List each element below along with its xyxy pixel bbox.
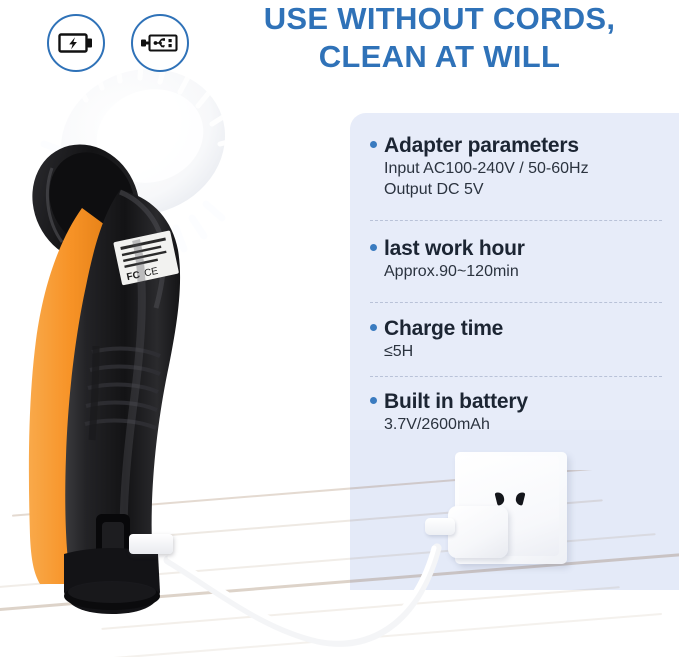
spec-title: Adapter parameters — [384, 133, 579, 158]
spec-title: Built in battery — [384, 389, 528, 414]
usb-connector-badge — [131, 14, 189, 72]
spec-detail-line: 3.7V/2600mAh — [384, 414, 670, 435]
bullet-icon — [370, 141, 377, 148]
spec-title: Charge time — [384, 316, 503, 341]
spec-detail-line: Input AC100-240V / 50-60Hz — [384, 158, 670, 179]
spec-divider — [370, 220, 662, 221]
battery-charging-badge — [47, 14, 105, 72]
spec-title: last work hour — [384, 236, 525, 261]
spec-divider — [370, 302, 662, 303]
spec-heading: Adapter parameters — [370, 133, 670, 158]
device-cable-plug — [129, 534, 173, 554]
outlet-slot-left — [495, 491, 506, 506]
spec-divider — [370, 376, 662, 377]
headline-line-2: CLEAN AT WILL — [200, 38, 679, 76]
usb-connector-icon — [140, 31, 180, 55]
battery-charging-icon — [58, 31, 94, 55]
spec-item-battery: Built in battery 3.7V/2600mAh — [370, 389, 670, 435]
usb-wall-adapter — [448, 506, 508, 558]
bullet-icon — [370, 324, 377, 331]
adapter-cable-plug — [425, 518, 455, 535]
specifications-panel: Adapter parameters Input AC100-240V / 50… — [350, 113, 679, 463]
spec-item-charge-time: Charge time ≤5H — [370, 316, 670, 362]
spec-item-adapter: Adapter parameters Input AC100-240V / 50… — [370, 133, 670, 200]
spec-heading: Charge time — [370, 316, 670, 341]
spec-detail-line: ≤5H — [384, 341, 670, 362]
spec-detail-line: Approx.90~120min — [384, 261, 670, 282]
spec-detail-line: Output DC 5V — [384, 179, 670, 200]
outlet-slot-right — [515, 491, 526, 506]
headline: USE WITHOUT CORDS, CLEAN AT WILL — [200, 0, 679, 76]
bullet-icon — [370, 397, 377, 404]
spec-heading: last work hour — [370, 236, 670, 261]
bullet-icon — [370, 244, 377, 251]
headline-line-1: USE WITHOUT CORDS, — [200, 0, 679, 38]
product-infographic: USE WITHOUT CORDS, CLEAN AT WILL — [0, 0, 679, 657]
spec-heading: Built in battery — [370, 389, 670, 414]
spec-item-work-hour: last work hour Approx.90~120min — [370, 236, 670, 282]
